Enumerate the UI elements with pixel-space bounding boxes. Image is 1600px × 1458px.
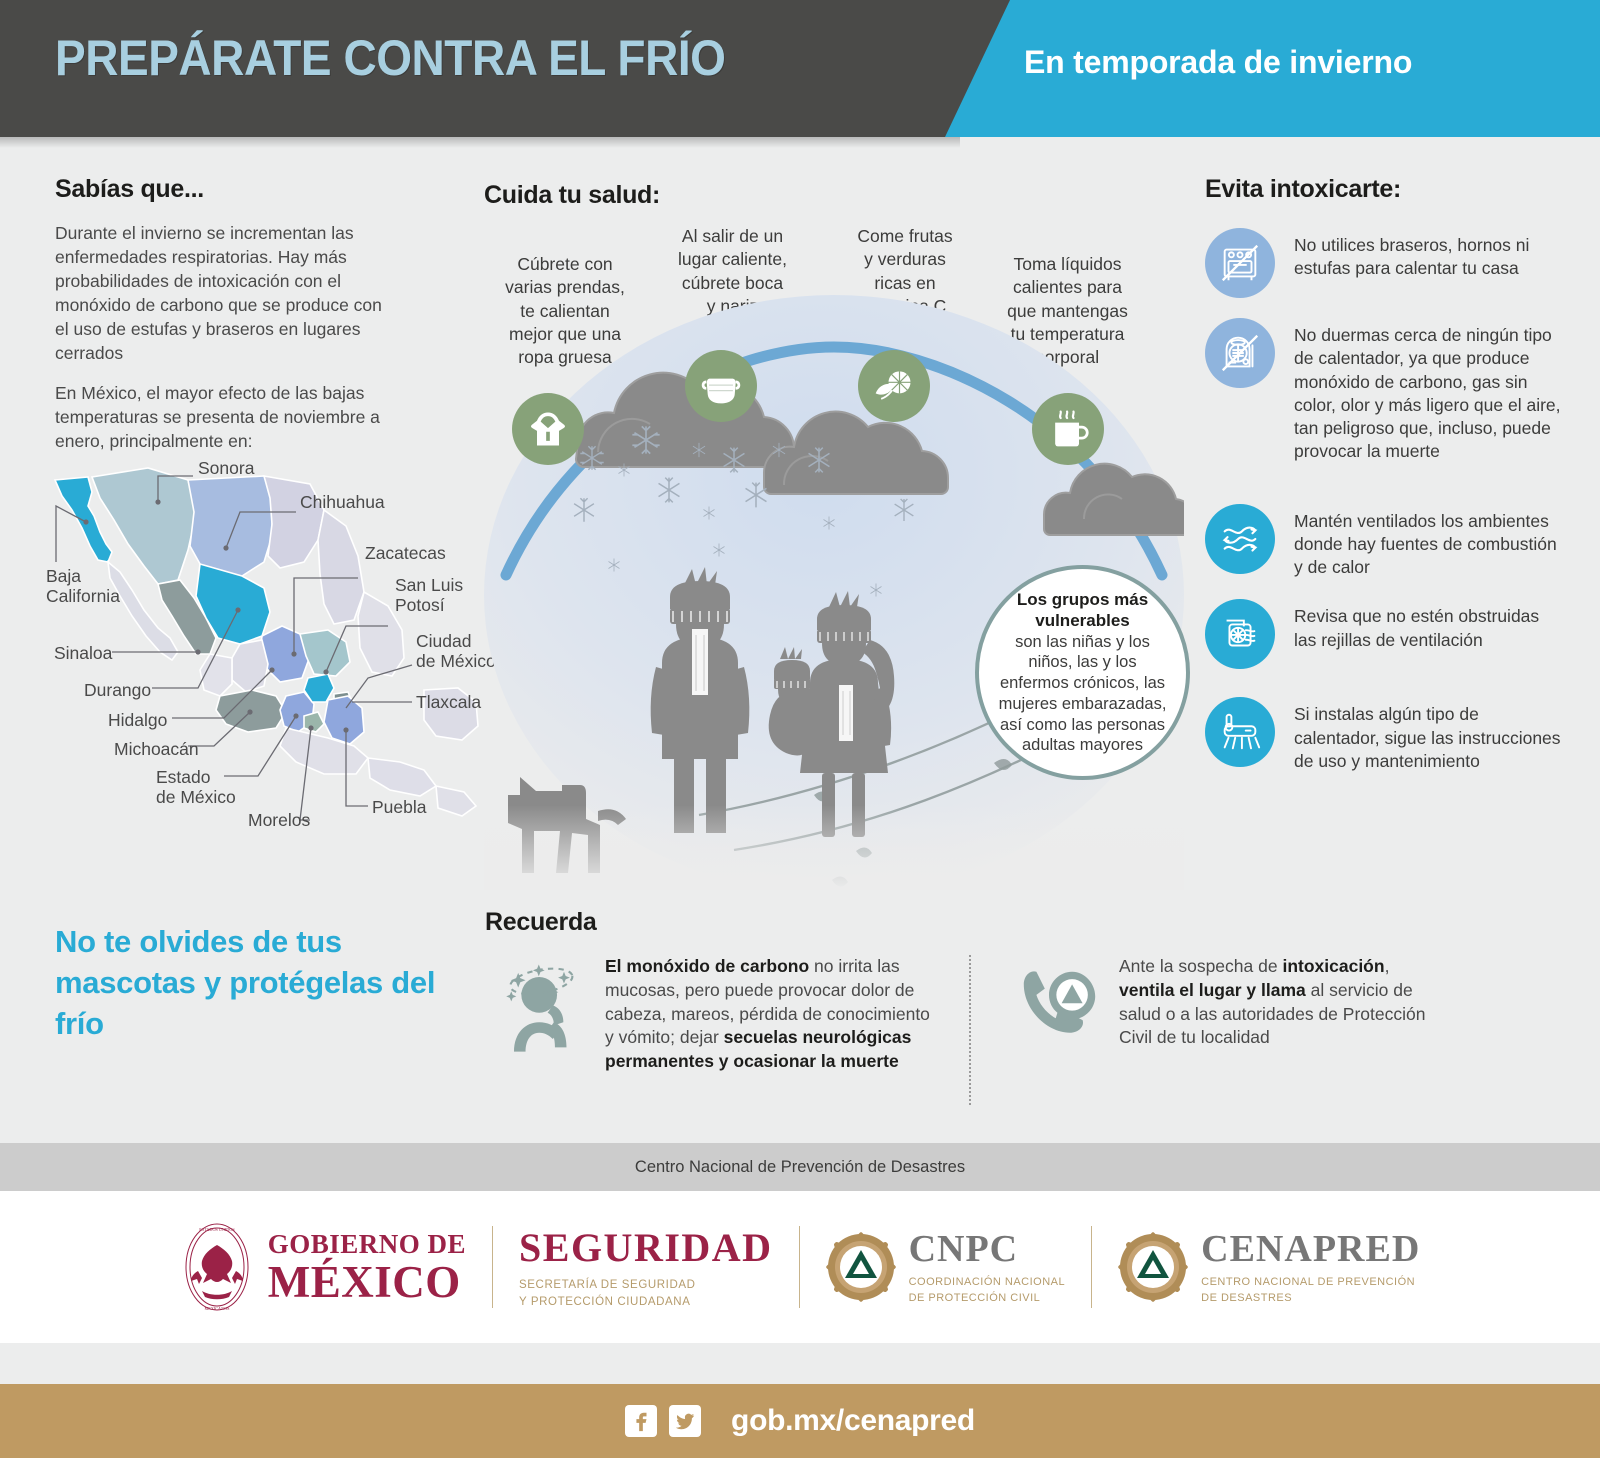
cenapred-medal-icon: [1118, 1232, 1188, 1302]
hot-drink-icon: [1046, 407, 1090, 451]
svg-text:ESTADOS UNIDOS: ESTADOS UNIDOS: [199, 1227, 235, 1232]
gobierno-de-mexico-logo: ESTADOS UNIDOS MEXICANOS GOBIERNO DE MÉX…: [180, 1221, 466, 1313]
ac-unit-icon-glyph: [1217, 709, 1263, 755]
no-heater-icon-glyph: [1217, 330, 1263, 376]
remember-divider: [969, 955, 971, 1105]
no-stove-icon-glyph: [1217, 240, 1263, 286]
avoid-title: Evita intoxicarte:: [1205, 175, 1565, 204]
mexican-eagle-seal-icon: ESTADOS UNIDOS MEXICANOS: [180, 1221, 254, 1313]
cnpc-logo: CNPC COORDINACIÓN NACIONAL DE PROTECCIÓN…: [826, 1227, 1066, 1307]
map-label-michoacan: Michoacán: [114, 739, 199, 759]
avoid-item-0-text: No utilices braseros, hornos ni estufas …: [1294, 228, 1565, 281]
avoid-item-1-text: No duermas cerca de ningún tipo de calen…: [1294, 318, 1565, 464]
dizzy-person-icon-glyph: [493, 955, 598, 1060]
no-stove-icon: [1205, 228, 1275, 298]
remember-left-bold-1: El monóxido de carbono: [605, 956, 809, 976]
map-label-zacatecas: Zacatecas: [365, 543, 446, 563]
remember-right-normal-1: Ante la sospecha de: [1119, 956, 1282, 976]
dizzy-person-icon: [485, 955, 605, 1060]
no-heater-icon: [1205, 318, 1275, 388]
did-you-know-section: Sabías que... Durante el invierno se inc…: [55, 175, 455, 470]
emergency-call-icon: [999, 955, 1119, 1060]
remember-right-bold-1: intoxicación: [1282, 956, 1384, 976]
cnpc-name: CNPC: [909, 1227, 1066, 1271]
map-label-chihuahua: Chihuahua: [300, 492, 385, 512]
cenapred-name: CENAPRED: [1201, 1227, 1420, 1271]
vulnerable-text: son las niñas y los niños, las y los enf…: [999, 633, 1167, 755]
did-you-know-title: Sabías que...: [55, 175, 455, 204]
map-label-estado-de-mexico: Estado de México: [156, 767, 236, 807]
cnpc-medal-icon: [826, 1232, 896, 1302]
seguridad-wordmark: SEGURIDAD: [519, 1224, 773, 1271]
ac-unit-icon: [1205, 697, 1275, 767]
health-icon-hoodie: [512, 393, 584, 465]
cnpc-wordmark: CNPC COORDINACIÓN NACIONAL DE PROTECCIÓN…: [909, 1227, 1066, 1307]
map-label-durango: Durango: [84, 680, 151, 700]
did-you-know-paragraph-1: Durante el invierno se incrementan las e…: [55, 222, 400, 366]
gobierno-de-mexico-wordmark: GOBIERNO DE MÉXICO: [268, 1229, 466, 1304]
avoid-item-4-text: Si instalas algún tipo de calentador, si…: [1294, 697, 1565, 773]
remember-right-block: Ante la sospecha de intoxicación, ventil…: [999, 955, 1479, 1060]
facebook-icon-glyph: [630, 1410, 652, 1432]
map-label-morelos: Morelos: [248, 810, 310, 830]
cenapred-subtitle: CENTRO NACIONAL DE PREVENCIÓN DE DESASTR…: [1201, 1275, 1420, 1307]
cenapred-logo: CENAPRED CENTRO NACIONAL DE PREVENCIÓN D…: [1118, 1227, 1420, 1307]
remember-section: Recuerda: [485, 908, 1505, 1093]
remember-right-normal-2: ,: [1385, 956, 1390, 976]
map-label-hidalgo: Hidalgo: [108, 710, 167, 730]
map-label-sonora: Sonora: [198, 458, 254, 478]
svg-text:MEXICANOS: MEXICANOS: [204, 1306, 230, 1311]
gob-line-1: GOBIERNO DE: [268, 1229, 466, 1260]
health-icon-facemask: [685, 350, 757, 422]
hoodie-icon: [526, 407, 570, 451]
infographic-page: PREPÁRATE CONTRA EL FRÍO En temporada de…: [0, 0, 1600, 1458]
avoid-poisoning-section: Evita intoxicarte: No utilices braseros,…: [1205, 175, 1565, 793]
avoid-item-3: Revisa que no estén obstruidas las rejil…: [1205, 599, 1565, 669]
page-header: PREPÁRATE CONTRA EL FRÍO En temporada de…: [0, 0, 1600, 137]
avoid-item-4: Si instalas algún tipo de calentador, si…: [1205, 697, 1565, 773]
vulnerable-groups-callout: Los grupos más vulnerables son las niñas…: [975, 565, 1190, 780]
avoid-item-1: No duermas cerca de ningún tipo de calen…: [1205, 318, 1565, 464]
citrus-icon: [872, 364, 916, 408]
footer-institution-bar: Centro Nacional de Prevención de Desastr…: [0, 1143, 1600, 1191]
avoid-item-3-text: Revisa que no estén obstruidas las rejil…: [1294, 599, 1565, 652]
emergency-call-icon-glyph: [1007, 955, 1112, 1060]
facebook-icon[interactable]: [625, 1405, 657, 1437]
gob-line-2: MÉXICO: [268, 1260, 466, 1304]
avoid-item-2-text: Mantén ventilados los ambientes donde ha…: [1294, 504, 1565, 580]
pets-message: No te olvides de tus mascotas y protégel…: [55, 922, 455, 1045]
airflow-icon: [1205, 504, 1275, 574]
logo-separator-1: [492, 1226, 493, 1308]
map-label-sinaloa: Sinaloa: [54, 643, 112, 663]
cnpc-subtitle: COORDINACIÓN NACIONAL DE PROTECCIÓN CIVI…: [909, 1275, 1066, 1307]
footer-institution-text: Centro Nacional de Prevención de Desastr…: [635, 1158, 965, 1177]
footer-social-bar: gob.mx/cenapred: [0, 1384, 1600, 1458]
health-section: Cuida tu salud: Cúbrete con varias prend…: [470, 175, 1200, 895]
remember-right-text: Ante la sospecha de intoxicación, ventil…: [1119, 955, 1449, 1050]
remember-title: Recuerda: [485, 908, 1505, 937]
twitter-icon-glyph: [674, 1410, 696, 1432]
airflow-icon-glyph: [1217, 516, 1263, 562]
remember-right-bold-2: ventila el lugar y llama: [1119, 980, 1306, 1000]
logo-separator-3: [1091, 1226, 1092, 1308]
remember-left-text: El monóxido de carbono no irrita las muc…: [605, 955, 935, 1074]
vulnerable-heading: Los grupos más vulnerables: [995, 589, 1170, 632]
footer-logo-bar: ESTADOS UNIDOS MEXICANOS GOBIERNO DE MÉX…: [0, 1191, 1600, 1343]
seguridad-logo: SEGURIDAD SECRETARÍA DE SEGURIDAD Y PROT…: [519, 1224, 773, 1310]
health-icon-citrus: [858, 350, 930, 422]
page-subtitle: En temporada de invierno: [1024, 44, 1412, 81]
map-label-san-luis-potosi: San Luis Potosí: [395, 575, 463, 615]
avoid-item-0: No utilices braseros, hornos ni estufas …: [1205, 228, 1565, 298]
header-shadow: [0, 137, 960, 148]
health-icon-hot-drink: [1032, 393, 1104, 465]
remember-left-block: El monóxido de carbono no irrita las muc…: [485, 955, 955, 1074]
map-label-puebla: Puebla: [372, 797, 427, 817]
logo-separator-2: [799, 1226, 800, 1308]
page-title: PREPÁRATE CONTRA EL FRÍO: [55, 29, 725, 87]
mexico-map: Sonora Chihuahua Zacatecas San Luis Poto…: [28, 440, 498, 840]
twitter-icon[interactable]: [669, 1405, 701, 1437]
cenapred-wordmark: CENAPRED CENTRO NACIONAL DE PREVENCIÓN D…: [1201, 1227, 1420, 1307]
vent-grille-icon-glyph: [1217, 611, 1263, 657]
vent-grille-icon: [1205, 599, 1275, 669]
health-title: Cuida tu salud:: [484, 181, 660, 210]
map-label-baja-california: Baja California: [46, 566, 120, 606]
facemask-icon: [699, 364, 743, 408]
avoid-item-2: Mantén ventilados los ambientes donde ha…: [1205, 504, 1565, 580]
website-url[interactable]: gob.mx/cenapred: [731, 1404, 975, 1438]
seguridad-subtitle: SECRETARÍA DE SEGURIDAD Y PROTECCIÓN CIU…: [519, 1277, 773, 1310]
